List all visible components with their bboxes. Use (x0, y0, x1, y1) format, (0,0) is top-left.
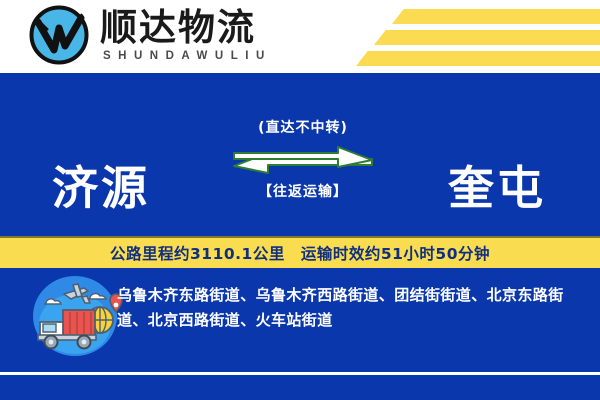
roundtrip-note: 【往返运输】 (228, 181, 378, 201)
distance-text: 公路里程约3110.1公里 (110, 245, 285, 263)
footer-band (0, 375, 600, 400)
stripe-1 (392, 9, 600, 24)
route-section: 济源 (直达不中转) 【往返运输】 奎屯 (0, 73, 600, 236)
company-logo-icon (28, 4, 90, 66)
stripe-2 (374, 30, 600, 45)
poster-root: 顺达物流 SHUNDAWULIU 济源 (直达不中转) 【往返运输】 奎屯 (0, 0, 600, 400)
duration-text: 运输时效约51小时50分钟 (301, 245, 490, 263)
brand-block: 顺达物流 SHUNDAWULIU (28, 4, 272, 66)
decorative-stripes (330, 0, 600, 73)
coverage-section: 乌鲁木齐东路街道、乌鲁木齐西路街道、团结街街道、北京东路街道、北京西路街道、火车… (0, 266, 600, 373)
brand-name-cn: 顺达物流 (100, 7, 272, 49)
info-bar: 公路里程约3110.1公里运输时效约51小时50分钟 (0, 236, 600, 268)
origin-city: 济源 (52, 152, 150, 218)
brand-name-en: SHUNDAWULIU (100, 49, 272, 63)
coverage-streets: 乌鲁木齐东路街道、乌鲁木齐西路街道、团结街街道、北京东路街道、北京西路街道、火车… (117, 283, 575, 333)
route-middle-block: (直达不中转) 【往返运输】 (228, 117, 378, 201)
header-bar: 顺达物流 SHUNDAWULIU (0, 0, 600, 73)
direct-note: (直达不中转) (228, 117, 378, 137)
destination-city: 奎屯 (448, 152, 546, 218)
logistics-truck-plane-globe-icon (26, 276, 124, 356)
stripe-3 (356, 51, 600, 66)
double-headed-arrow-icon (228, 143, 378, 177)
info-bar-content: 公路里程约3110.1公里运输时效约51小时50分钟 (110, 242, 490, 264)
brand-text-block: 顺达物流 SHUNDAWULIU (100, 7, 272, 63)
